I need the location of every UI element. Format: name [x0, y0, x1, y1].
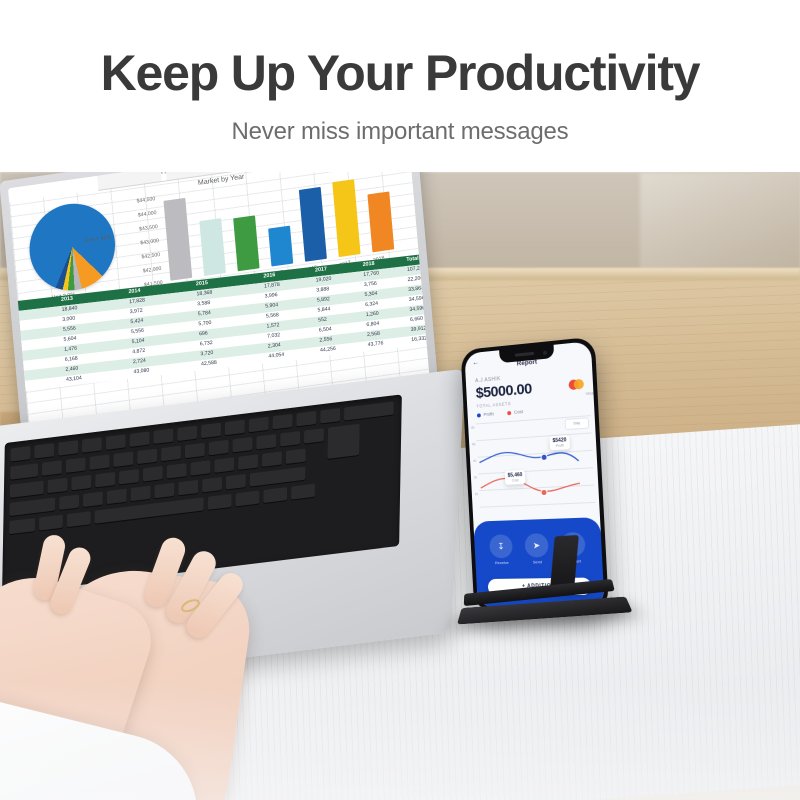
key-tab[interactable]	[10, 463, 38, 480]
bottom-fade	[0, 680, 800, 800]
phone-stand	[457, 573, 636, 641]
cell-r3-c6: 6,324	[365, 301, 378, 308]
key-alt-right[interactable]	[208, 494, 232, 510]
key[interactable]	[71, 475, 91, 491]
key[interactable]	[167, 463, 187, 479]
cell-r7-c1: 43,104	[66, 376, 82, 384]
y-tick-2: $42,500	[126, 252, 160, 263]
smartphone: ← Report A.J ASHIK $5000.00 Visa TOTAL A…	[460, 337, 609, 612]
cell-r1-c5: 3,888	[316, 287, 329, 294]
key[interactable]	[153, 428, 173, 444]
legend-label-profit: Profit	[483, 411, 493, 417]
key[interactable]	[280, 431, 300, 447]
key[interactable]	[130, 431, 150, 447]
key[interactable]	[47, 478, 67, 494]
key[interactable]	[131, 486, 151, 502]
receive-button[interactable]: ↧ Receive	[489, 534, 513, 558]
cell-r3-c2: 5,556	[131, 328, 144, 335]
bar-2014	[233, 215, 259, 271]
cell-r2-c6: 5,304	[364, 291, 377, 298]
key-pgup[interactable]	[235, 490, 259, 506]
cell-r3-c4: 5,568	[266, 313, 279, 320]
th-2014: 2014	[128, 288, 140, 295]
cell-r0-c3: 18,368	[196, 290, 212, 298]
y-tick-3: $43,000	[125, 238, 159, 249]
key[interactable]	[59, 494, 79, 510]
cell-r7-total: 16,332	[411, 336, 427, 344]
key[interactable]	[106, 434, 126, 450]
bar-2013	[199, 218, 226, 276]
key[interactable]	[296, 411, 316, 427]
card-label: Visa	[585, 390, 593, 396]
key[interactable]	[143, 466, 163, 482]
key[interactable]	[66, 457, 86, 473]
bar-2018	[367, 191, 394, 252]
send-button[interactable]: ➤ Send	[524, 533, 549, 558]
cost-tooltip: $5,460 Cost	[505, 470, 526, 485]
cell-r5-c4: 7,032	[267, 333, 280, 340]
cell-r3-total: 34,596	[409, 296, 425, 304]
credit-card-icon[interactable]	[568, 379, 585, 391]
cell-r1-c2: 3,972	[130, 308, 143, 315]
key-backspace[interactable]	[344, 401, 394, 420]
key-p[interactable]	[256, 434, 276, 450]
cell-r7-c3: 42,588	[201, 360, 217, 368]
cell-r6-c2: 2,724	[133, 358, 146, 365]
key[interactable]	[119, 469, 139, 485]
cell-r5-c5: 6,504	[319, 327, 332, 334]
key[interactable]	[113, 452, 133, 468]
receive-label: Receive	[486, 560, 519, 566]
section-label: TOTAL ASSETS	[476, 401, 511, 409]
key[interactable]	[177, 426, 197, 442]
cell-r4-c5: 552	[318, 317, 327, 324]
key[interactable]	[58, 440, 78, 456]
profit-line	[479, 448, 579, 466]
cell-r1-c6: 3,756	[364, 281, 377, 288]
key-ctrl[interactable]	[9, 518, 35, 534]
key[interactable]	[286, 448, 306, 464]
send-plane-icon: ➤	[524, 533, 549, 558]
key[interactable]	[272, 414, 292, 430]
key[interactable]	[225, 420, 245, 436]
cell-r7-c6: 43,776	[368, 341, 384, 349]
key[interactable]	[304, 428, 324, 444]
key-enter[interactable]	[327, 424, 359, 459]
th-2016: 2016	[263, 273, 275, 280]
cell-r2-c4: 5,904	[265, 302, 278, 309]
cell-r1-total: 22,200	[407, 276, 423, 284]
quick-actions: ↧ Receive ➤ Send ↻ Convert	[474, 531, 603, 576]
key-shift-right[interactable]	[250, 467, 306, 487]
cell-r0-c2: 17,828	[129, 298, 145, 306]
key[interactable]	[10, 446, 30, 462]
key[interactable]	[185, 443, 205, 459]
key[interactable]	[226, 474, 246, 490]
legend-dot-cost	[507, 411, 511, 415]
line-chart: 8k 6k 4k 2k 1k Day $5420	[468, 415, 599, 508]
key[interactable]	[154, 483, 174, 499]
lifestyle-photo: H I J K Unit 1 41% Unit 2 9%	[0, 172, 800, 800]
send-label: Send	[521, 559, 554, 565]
legend-label-cost: Cost	[514, 409, 523, 415]
key[interactable]	[161, 446, 181, 462]
bar-2015	[268, 226, 293, 267]
cell-r0-c1: 18,840	[62, 306, 78, 314]
cell-r2-c3: 5,784	[198, 310, 211, 317]
key[interactable]	[238, 454, 258, 470]
y-tick-1: $42,000	[127, 266, 161, 277]
th-2017: 2017	[315, 267, 327, 274]
profit-tooltip-label: Profit	[553, 443, 567, 448]
key[interactable]	[137, 449, 157, 465]
cell-r4-total: 34,596	[409, 306, 425, 314]
card-circle-orange	[573, 379, 584, 390]
speaker-grill	[515, 352, 535, 356]
page-title: Keep Up Your Productivity	[0, 48, 800, 98]
cell-r6-c5: 2,556	[319, 337, 332, 344]
cell-r5-c1: 6,168	[65, 356, 78, 363]
key-end[interactable]	[291, 484, 315, 500]
cell-r2-c2: 5,424	[130, 318, 143, 325]
cost-line	[480, 475, 580, 495]
profit-data-point[interactable]	[541, 454, 548, 461]
key-pgdn[interactable]	[263, 487, 287, 503]
balance-amount: $5000.00	[475, 380, 532, 402]
chart-lines	[468, 415, 599, 508]
cell-r4-c2: 5,104	[131, 338, 144, 345]
key[interactable]	[107, 489, 127, 505]
cell-r5-c2: 4,872	[132, 348, 145, 355]
key[interactable]	[202, 477, 222, 493]
key[interactable]	[320, 408, 340, 424]
download-arrow-icon: ↧	[489, 534, 513, 558]
th-2018: 2018	[362, 261, 374, 268]
cell-r6-c1: 2,460	[65, 366, 78, 373]
cell-r5-c6: 6,804	[366, 321, 379, 328]
y-tick-4: $43,500	[124, 224, 158, 235]
key[interactable]	[34, 443, 54, 459]
cell-r0-c4: 17,878	[264, 282, 280, 290]
y-tick-6: $44,500	[121, 196, 155, 207]
key[interactable]	[201, 423, 221, 439]
cell-r3-c1: 5,604	[63, 336, 76, 343]
page-subtitle: Never miss important messages	[0, 118, 800, 146]
cell-r2-c5: 5,892	[317, 297, 330, 304]
cell-r2-total: 33,864	[408, 286, 424, 294]
th-2013: 2013	[61, 296, 73, 303]
cell-r3-c3: 5,700	[198, 320, 211, 327]
cell-r3-c5: 5,844	[317, 307, 330, 314]
key[interactable]	[95, 472, 115, 488]
key-fn[interactable]	[39, 515, 63, 531]
cell-r7-c2: 43,080	[133, 368, 149, 376]
cell-r4-c1: 1,476	[64, 346, 77, 353]
cell-r1-c3: 3,588	[197, 300, 210, 307]
key[interactable]	[178, 480, 198, 496]
key[interactable]	[42, 460, 62, 476]
cell-r0-c6: 17,760	[363, 271, 379, 279]
key-alt[interactable]	[67, 511, 91, 527]
header: Keep Up Your Productivity Never miss imp…	[0, 0, 800, 172]
bar-2012	[163, 198, 192, 281]
legend-dot-profit	[477, 413, 481, 417]
key[interactable]	[214, 457, 234, 473]
cell-r6-c4: 2,304	[268, 343, 281, 350]
th-2015: 2015	[196, 280, 208, 287]
bar-chart-y-axis: $41,500 $42,000 $42,500 $43,000 $43,500 …	[121, 194, 163, 298]
bar-2016	[299, 187, 327, 262]
cell-r4-c6: 1,260	[366, 311, 379, 318]
cell-r5-total: 6,660	[410, 316, 423, 323]
product-marketing-banner: Keep Up Your Productivity Never miss imp…	[0, 0, 800, 800]
cell-r0-total: 107,294	[407, 265, 426, 273]
phone-screen: ← Report A.J ASHIK $5000.00 Visa TOTAL A…	[464, 341, 604, 607]
profit-tooltip: $5420 Profit	[549, 435, 570, 450]
cell-r4-c3: 696	[199, 331, 208, 338]
cell-r4-c4: 1,572	[266, 323, 279, 330]
cost-data-point[interactable]	[540, 489, 547, 496]
cell-r6-total: 39,912	[411, 326, 427, 334]
y-tick-5: $44,000	[123, 210, 157, 221]
laptop: H I J K Unit 1 41% Unit 2 9%	[0, 172, 460, 672]
bar-2017	[332, 179, 360, 257]
key[interactable]	[83, 492, 103, 508]
key-o[interactable]	[232, 437, 252, 453]
key[interactable]	[209, 440, 229, 456]
pie-chart-disc	[26, 198, 119, 296]
key[interactable]	[190, 460, 210, 476]
front-camera-icon	[543, 350, 547, 354]
cost-tooltip-label: Cost	[508, 478, 523, 483]
key[interactable]	[249, 417, 269, 433]
key[interactable]	[262, 451, 282, 467]
key-caps[interactable]	[10, 481, 44, 498]
cell-r2-c1: 5,556	[63, 326, 76, 333]
cell-r1-c4: 3,996	[265, 292, 278, 299]
cell-r0-c5: 19,020	[315, 276, 331, 284]
key[interactable]	[90, 454, 110, 470]
key-shift-left[interactable]	[9, 497, 55, 516]
key[interactable]	[82, 437, 102, 453]
th-total: Total	[406, 256, 419, 263]
smartphone-on-stand: ← Report A.J ASHIK $5000.00 Visa TOTAL A…	[455, 336, 655, 648]
cell-r6-c6: 2,568	[367, 331, 380, 338]
cell-r5-c3: 6,732	[200, 340, 213, 347]
cell-r7-c5: 44,256	[320, 346, 336, 354]
cell-r1-c1: 3,000	[62, 316, 75, 323]
pie-chart: Unit 1 41% Unit 2 9%	[18, 194, 121, 303]
cell-r7-c4: 44,054	[268, 352, 284, 360]
cell-r6-c3: 3,720	[200, 350, 213, 357]
